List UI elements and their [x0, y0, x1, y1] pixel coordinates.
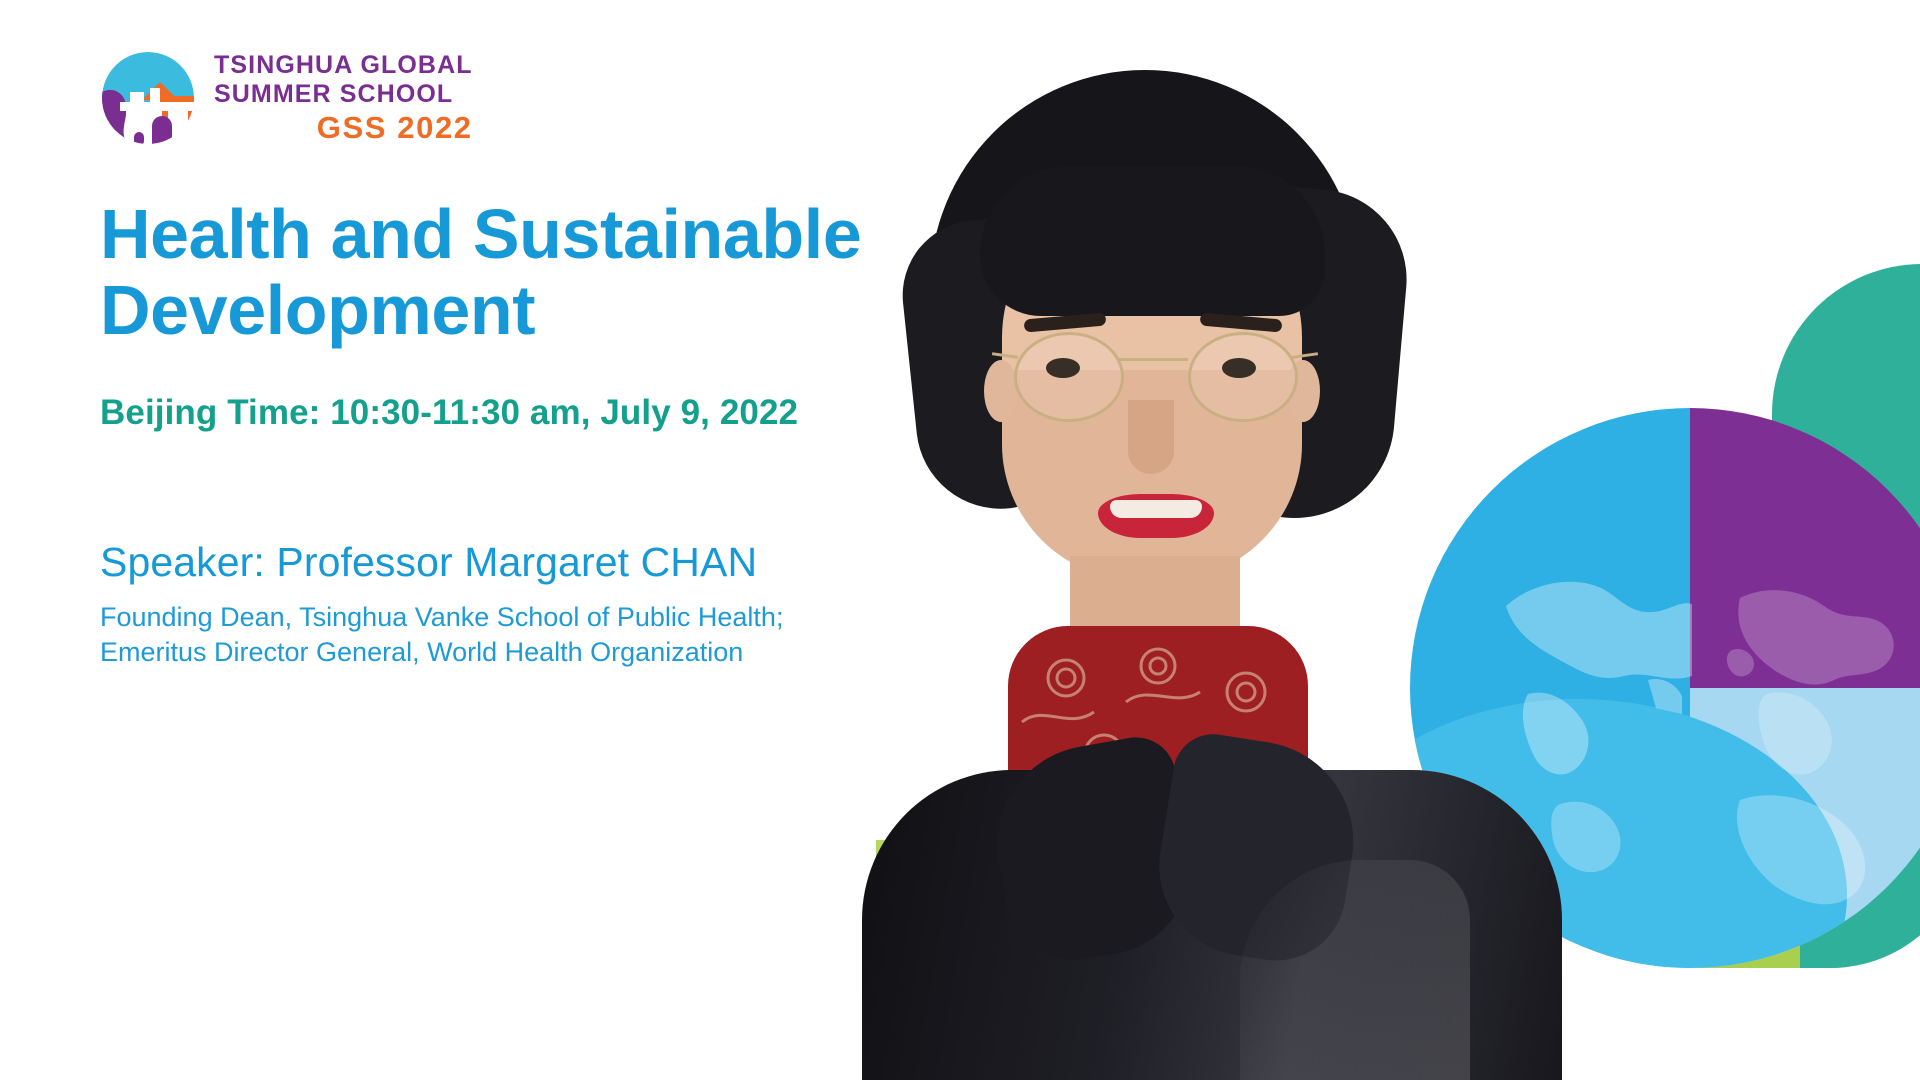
hair-fringe — [980, 166, 1325, 316]
event-datetime: Beijing Time: 10:30-11:30 am, July 9, 20… — [100, 393, 960, 433]
logo-line-1: TSINGHUA GLOBAL — [214, 53, 473, 78]
nose — [1128, 400, 1174, 474]
title-line-2: Development — [100, 271, 535, 349]
speaker-name: Speaker: Professor Margaret CHAN — [100, 539, 960, 586]
glasses-lens-right — [1188, 332, 1298, 422]
poster-canvas: TSINGHUA GLOBAL SUMMER SCHOOL GSS 2022 H… — [0, 0, 1920, 1080]
glasses-bridge — [1118, 358, 1188, 361]
poster-text-block: Health and Sustainable Development Beiji… — [100, 196, 960, 671]
glasses-lens-left — [1014, 332, 1124, 422]
logo-line-2: SUMMER SCHOOL — [214, 82, 473, 107]
gss-logo: TSINGHUA GLOBAL SUMMER SCHOOL GSS 2022 — [100, 50, 473, 146]
logo-wordmark: TSINGHUA GLOBAL SUMMER SCHOOL GSS 2022 — [214, 53, 473, 143]
teeth — [1110, 500, 1202, 518]
glasses-temple-left — [992, 352, 1018, 359]
logo-line-3: GSS 2022 — [214, 112, 473, 143]
page-title: Health and Sustainable Development — [100, 196, 960, 349]
speaker-affiliation: Founding Dean, Tsinghua Vanke School of … — [100, 600, 960, 671]
affiliation-line-1: Founding Dean, Tsinghua Vanke School of … — [100, 600, 960, 636]
affiliation-line-2: Emeritus Director General, World Health … — [100, 635, 960, 671]
title-line-1: Health and Sustainable — [100, 195, 861, 273]
tsinghua-gss-emblem-icon — [100, 50, 196, 146]
